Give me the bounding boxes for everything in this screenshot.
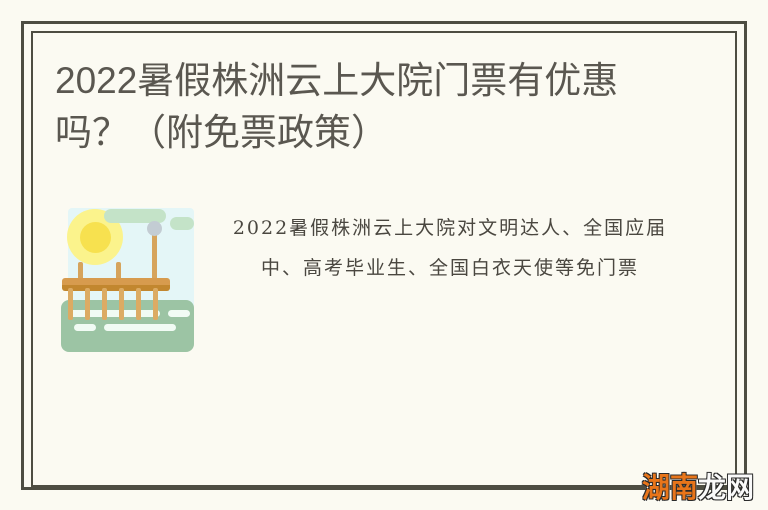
wave-line [68, 310, 160, 317]
wave-line [168, 310, 190, 317]
site-watermark: 湖南龙网 [642, 474, 754, 502]
pier-sunset-illustration [56, 200, 206, 355]
pier-piling [102, 288, 107, 320]
cloud-icon-right [170, 217, 194, 230]
sun-icon [80, 222, 111, 253]
article-summary-text: 2022暑假株洲云上大院对文明达人、全国应届中、高考毕业生、全国白衣天使等免门票 [224, 200, 676, 288]
article-header: 2022暑假株洲云上大院门票有优惠吗？（附免票政策） [55, 55, 675, 159]
pier-piling [85, 288, 90, 320]
article-card: 2022暑假株洲云上大院门票有优惠吗？（附免票政策） [0, 0, 768, 510]
lamp-head-icon [147, 221, 162, 236]
pier-piling [153, 288, 158, 320]
pier-piling [119, 288, 124, 320]
lamp-post-icon [152, 230, 157, 282]
wave-line [104, 324, 176, 331]
pier-piling [68, 288, 73, 320]
article-summary-block: 2022暑假株洲云上大院对文明达人、全国应届中、高考毕业生、全国白衣天使等免门票 [56, 200, 676, 355]
pier-piling [136, 288, 141, 320]
watermark-part-two: 龙网 [698, 471, 754, 504]
watermark-part-one: 湖南 [642, 471, 698, 504]
page-title: 2022暑假株洲云上大院门票有优惠吗？（附免票政策） [55, 55, 655, 159]
wave-line [74, 324, 96, 331]
